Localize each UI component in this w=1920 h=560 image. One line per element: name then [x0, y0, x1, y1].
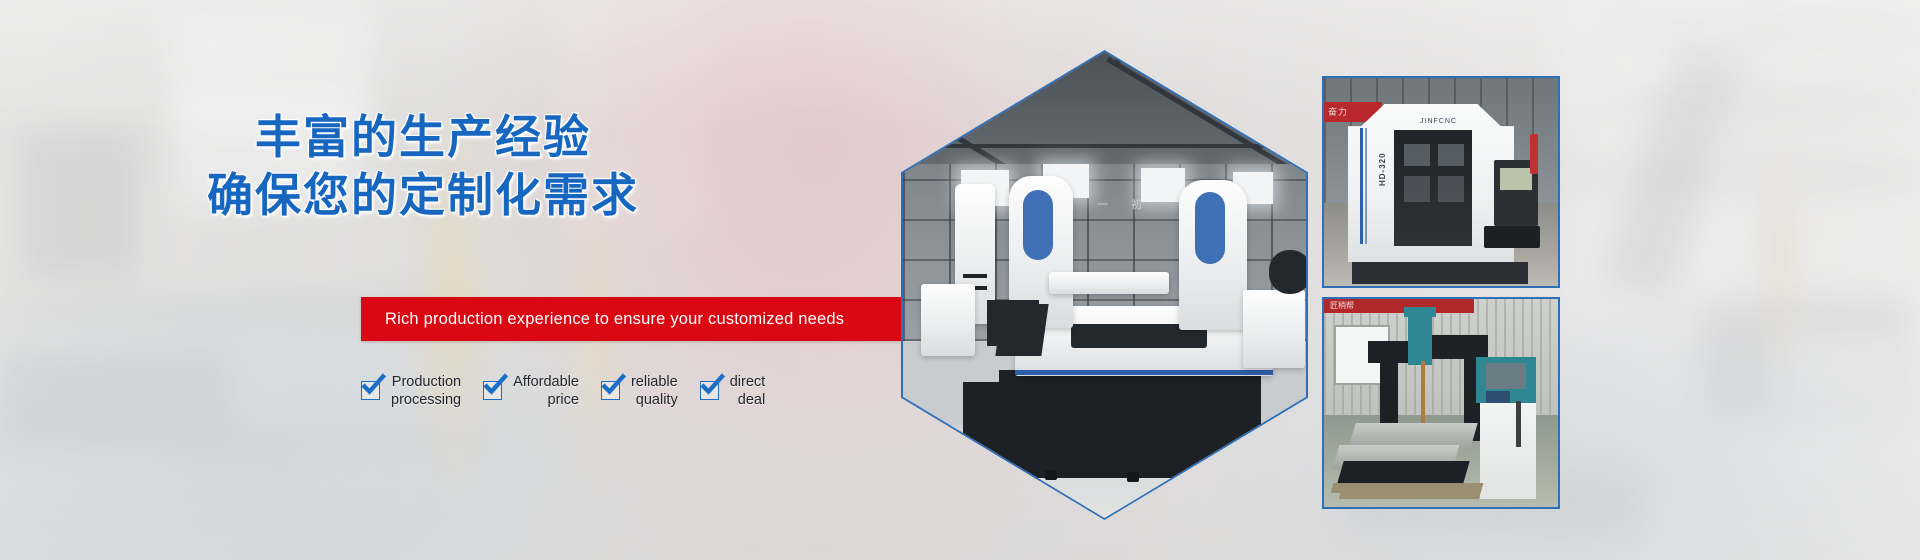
hero-banner: 丰富的生产经验 确保您的定制化需求 Rich production experi…	[0, 0, 1920, 560]
feature-item-affordable-price: Affordable price	[483, 373, 579, 409]
thumbnail-machining-center[interactable]: HD-320 JINFCNC 奋力	[1322, 76, 1560, 288]
feature-label-line-2: price	[513, 391, 579, 409]
feature-label-line-2: processing	[391, 391, 461, 409]
checkbox-checked-icon	[601, 381, 620, 400]
wall-banner-text: 匠稍帮	[1330, 300, 1354, 311]
subtitle-bar: Rich production experience to ensure you…	[361, 297, 905, 341]
feature-label-line-1: Affordable	[513, 373, 579, 391]
thumbnail-stack: HD-320 JINFCNC 奋力	[1322, 76, 1562, 509]
checkbox-checked-icon	[700, 381, 719, 400]
feature-item-reliable-quality: reliable quality	[601, 373, 678, 409]
wall-banner-text: 奋力	[1328, 105, 1348, 118]
feature-list: Production processing Affordable price	[361, 373, 787, 409]
feature-label-line-2: quality	[631, 391, 678, 409]
feature-label: direct deal	[730, 373, 765, 409]
banner-copy: 丰富的生产经验 确保您的定制化需求 Rich production experi…	[0, 0, 940, 560]
feature-item-direct-deal: direct deal	[700, 373, 765, 409]
feature-label-line-2: deal	[730, 391, 765, 409]
feature-label-line-1: Production	[391, 373, 461, 391]
checkbox-checked-icon	[483, 381, 502, 400]
feature-label: Affordable price	[513, 373, 579, 409]
feature-label-line-1: direct	[730, 373, 765, 391]
wall-sign-text: 定 一 初	[1063, 196, 1152, 212]
feature-item-production-processing: Production processing	[361, 373, 461, 409]
thumbnail-gantry-machine[interactable]: 匠稍帮	[1322, 297, 1560, 509]
checkbox-checked-icon	[361, 381, 380, 400]
page-title: 丰富的生产经验 确保您的定制化需求	[0, 108, 846, 224]
feature-label: reliable quality	[631, 373, 678, 409]
machine-brand-label: JINFCNC	[1420, 118, 1457, 125]
subtitle-text: Rich production experience to ensure you…	[361, 297, 905, 341]
headline-line-1: 丰富的生产经验	[255, 110, 591, 164]
feature-label-line-1: reliable	[631, 373, 678, 391]
feature-label: Production processing	[391, 373, 461, 409]
machine-model-label: HD-320	[1378, 152, 1387, 186]
headline-line-2: 确保您的定制化需求	[0, 166, 846, 224]
